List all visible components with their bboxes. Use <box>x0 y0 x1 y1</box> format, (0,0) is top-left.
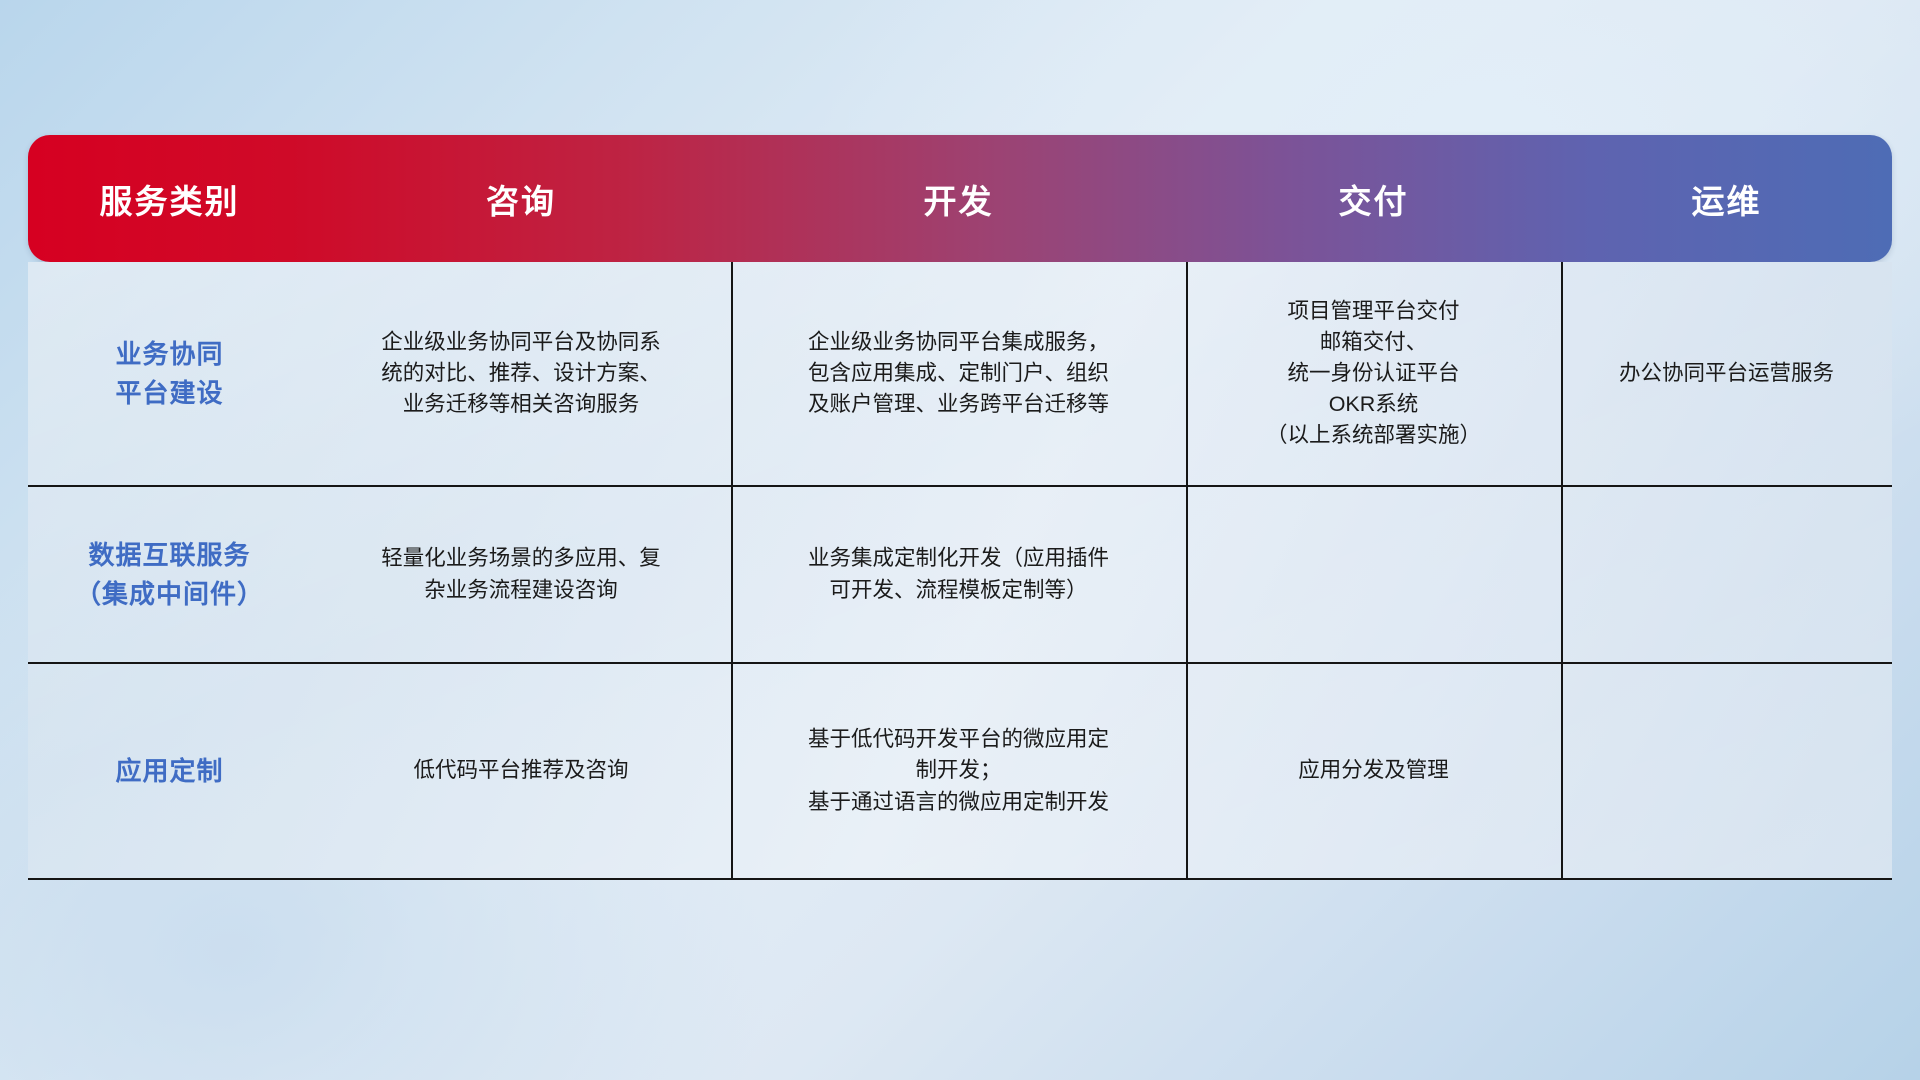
cell-operations <box>1561 487 1892 662</box>
cell-delivery: 项目管理平台交付 邮箱交付、 统一身份认证平台 OKR系统 （以上系统部署实施） <box>1186 262 1561 485</box>
cell-development: 企业级业务协同平台集成服务， 包含应用集成、定制门户、组织 及账户管理、业务跨平… <box>731 262 1186 485</box>
header-label-service-category: 服务类别 <box>100 175 240 223</box>
slide-canvas: 服务类别 咨询 开发 交付 运维 业务协同 平台建设 企业 <box>0 0 1920 1080</box>
cell-category: 应用定制 <box>28 664 311 878</box>
cell-delivery: 应用分发及管理 <box>1186 664 1561 878</box>
cell-consulting: 企业级业务协同平台及协同系 统的对比、推荐、设计方案、 业务迁移等相关咨询服务 <box>311 262 731 485</box>
table-header-cell-operations: 运维 <box>1561 135 1892 262</box>
service-matrix-table: 服务类别 咨询 开发 交付 运维 业务协同 平台建设 企业 <box>28 135 1892 965</box>
cell-development: 业务集成定制化开发（应用插件 可开发、流程模板定制等） <box>731 487 1186 662</box>
table-header-cell-delivery: 交付 <box>1186 135 1561 262</box>
cell-category: 业务协同 平台建设 <box>28 262 311 485</box>
table-row: 业务协同 平台建设 企业级业务协同平台及协同系 统的对比、推荐、设计方案、 业务… <box>28 262 1892 487</box>
cell-consulting: 低代码平台推荐及咨询 <box>311 664 731 878</box>
cell-operations: 办公协同平台运营服务 <box>1561 262 1892 485</box>
header-label-operations: 运维 <box>1692 175 1762 223</box>
table-body: 业务协同 平台建设 企业级业务协同平台及协同系 统的对比、推荐、设计方案、 业务… <box>28 262 1892 880</box>
table-header-cell-development: 开发 <box>731 135 1186 262</box>
cell-consulting: 轻量化业务场景的多应用、复 杂业务流程建设咨询 <box>311 487 731 662</box>
table-row: 数据互联服务 （集成中间件） 轻量化业务场景的多应用、复 杂业务流程建设咨询 业… <box>28 487 1892 664</box>
header-label-delivery: 交付 <box>1339 175 1409 223</box>
table-header-cell-consulting: 咨询 <box>311 135 731 262</box>
table-header-row: 服务类别 咨询 开发 交付 运维 <box>28 135 1892 262</box>
table-row: 应用定制 低代码平台推荐及咨询 基于低代码开发平台的微应用定 制开发； 基于通过… <box>28 664 1892 880</box>
header-label-development: 开发 <box>924 175 994 223</box>
cell-category: 数据互联服务 （集成中间件） <box>28 487 311 662</box>
table-header-cell-service-category: 服务类别 <box>28 135 311 262</box>
cell-development: 基于低代码开发平台的微应用定 制开发； 基于通过语言的微应用定制开发 <box>731 664 1186 878</box>
cell-operations <box>1561 664 1892 878</box>
cell-delivery <box>1186 487 1561 662</box>
header-label-consulting: 咨询 <box>486 175 556 223</box>
